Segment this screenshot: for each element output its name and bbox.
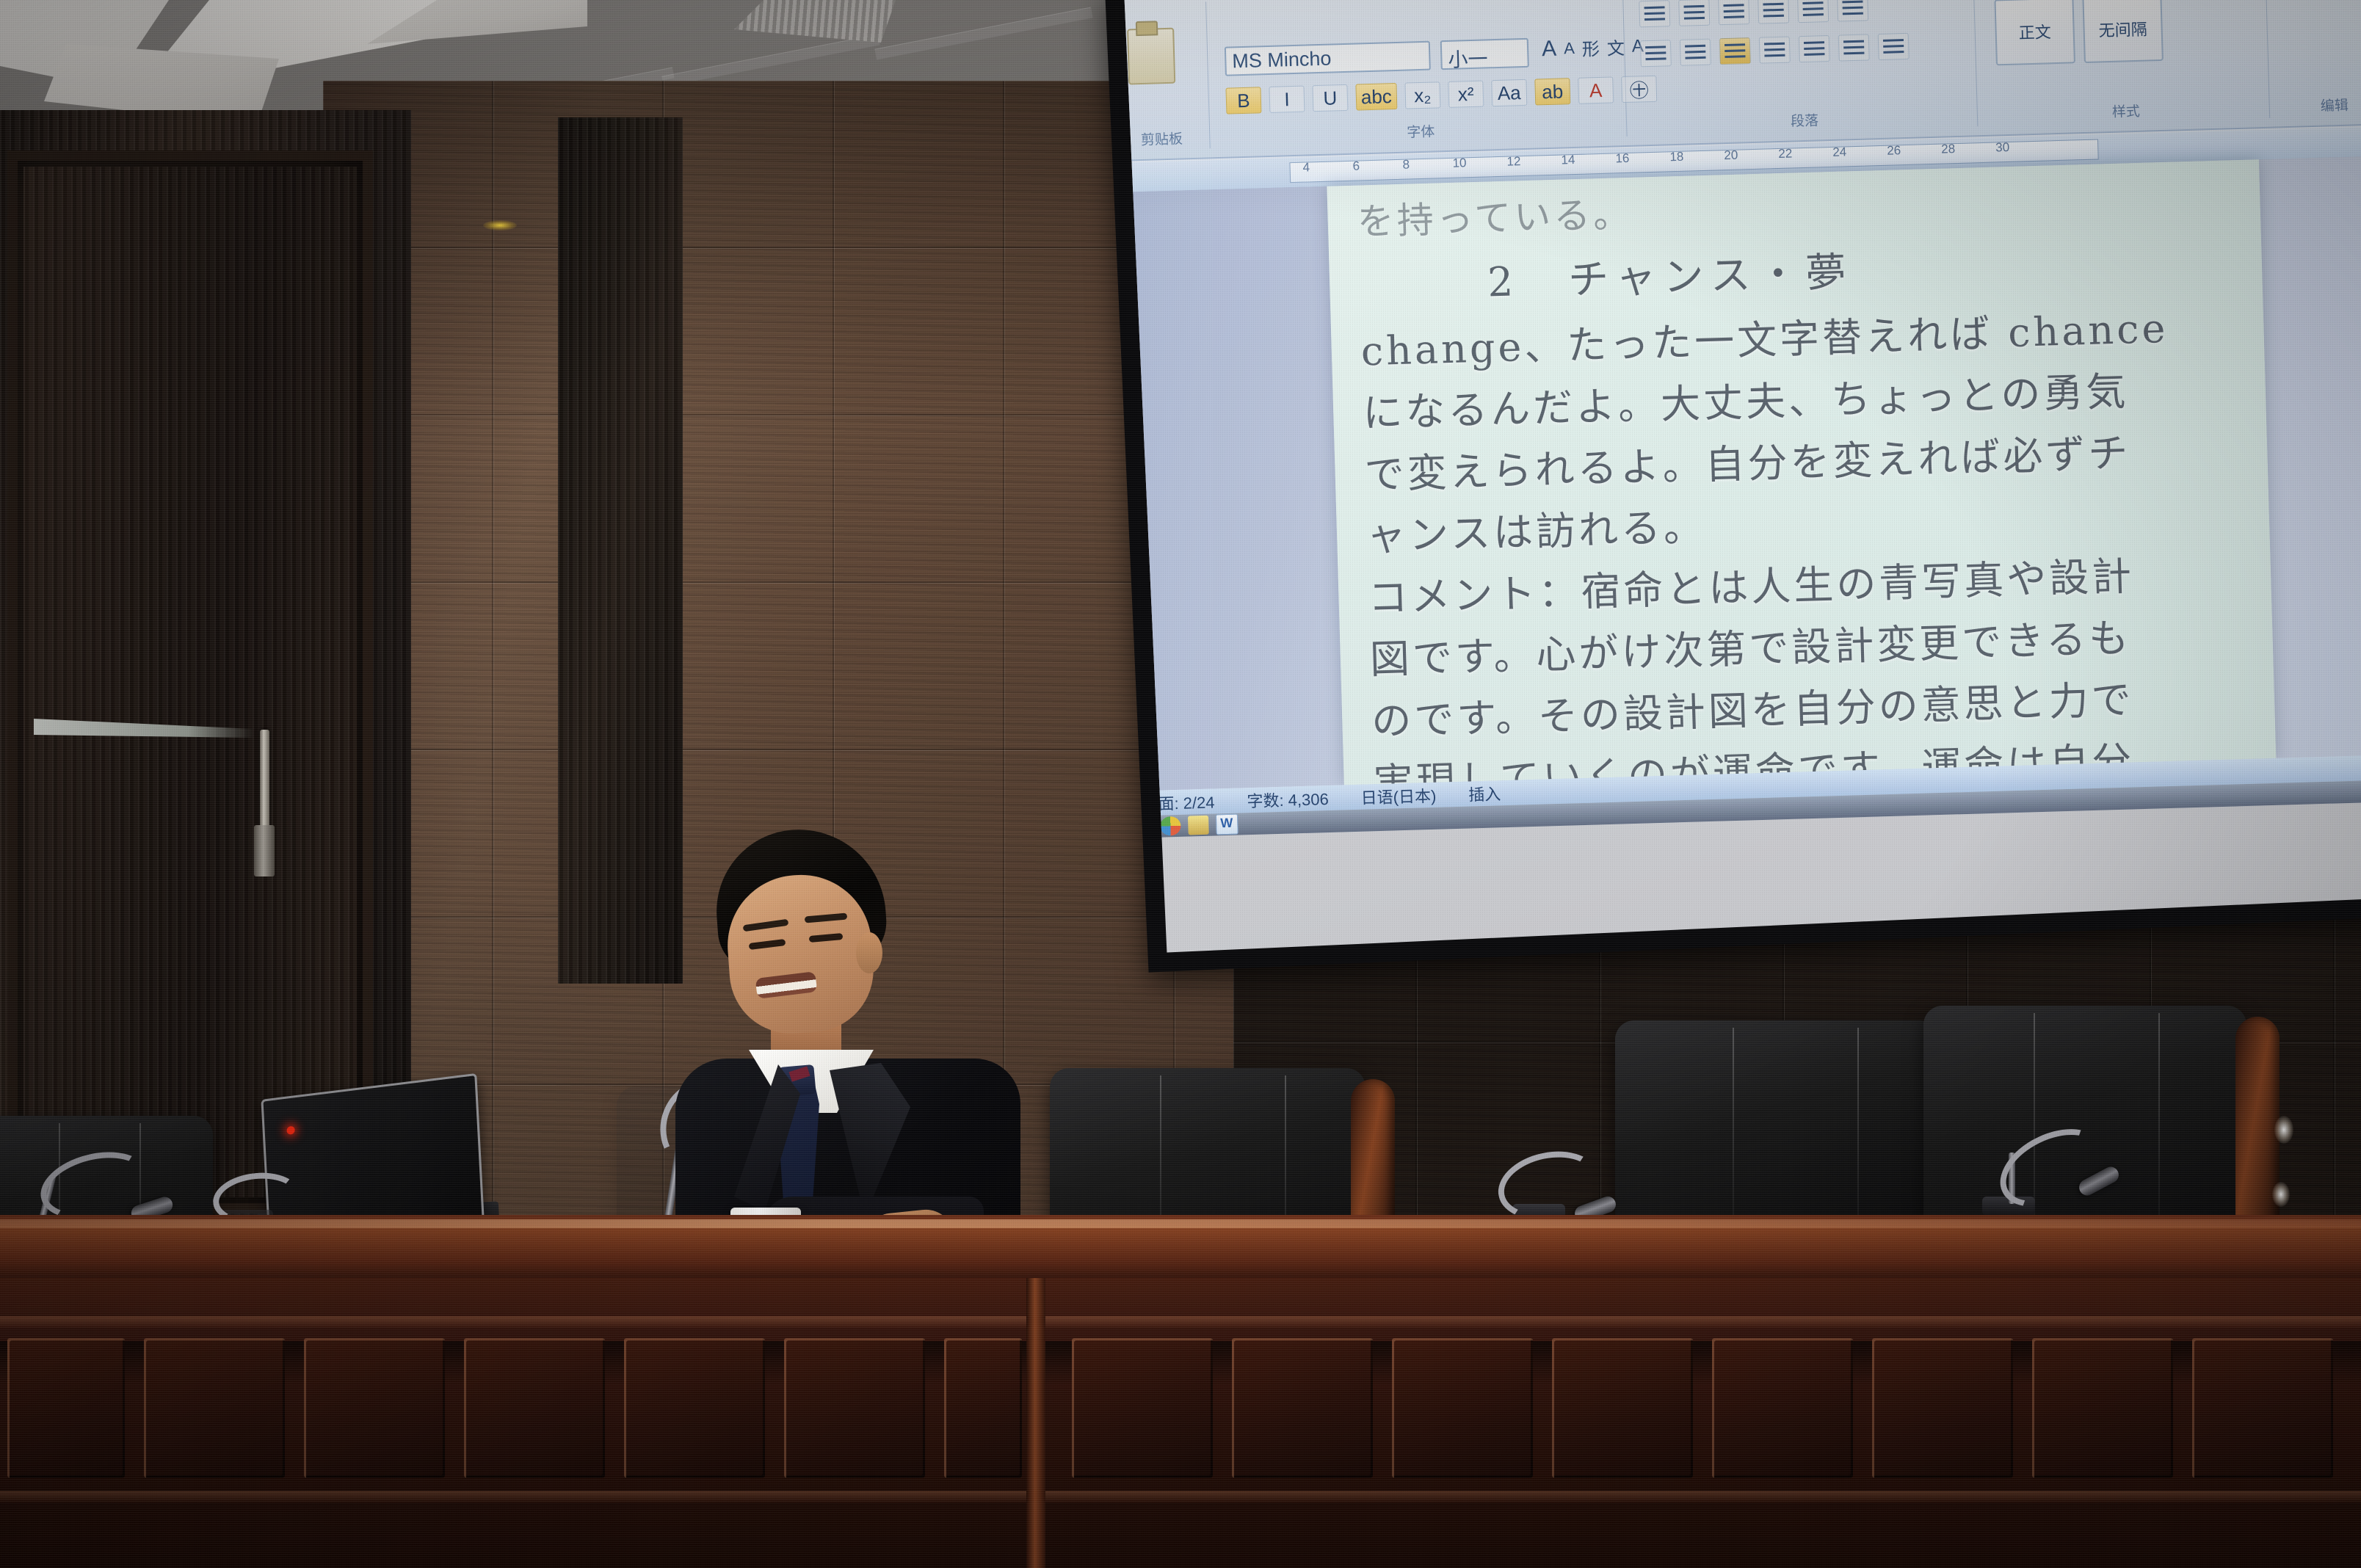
sort-icon[interactable] — [1837, 0, 1868, 22]
borders-icon[interactable] — [1878, 33, 1910, 60]
clear-formatting-icon[interactable]: 形 — [1581, 35, 1600, 61]
document-page[interactable]: を持っている。 2 チャンス・夢 change、たった一文字替えれば chanc… — [1327, 159, 2276, 785]
desk-panel — [784, 1338, 925, 1478]
grow-font-icon[interactable]: A — [1542, 36, 1557, 62]
status-language[interactable]: 日语(日本) — [1360, 783, 1437, 809]
ruler-tick: 22 — [1778, 146, 1792, 161]
desk-panel — [1232, 1338, 1373, 1478]
group-label-font: 字体 — [1215, 115, 1627, 147]
ruler-tick: 28 — [1941, 142, 1955, 157]
ribbon-group-paragraph: 段落 — [1628, 0, 1979, 137]
lecture-hall-scene: ↶ ▾ ↷ ▾ 文档1 - Microsoft Word 开始 插入 — [0, 0, 2361, 1568]
shading-icon[interactable] — [1838, 34, 1870, 61]
ruler-tick: 20 — [1724, 148, 1738, 164]
status-insert-mode[interactable]: 插入 — [1468, 781, 1501, 805]
door[interactable] — [7, 150, 373, 1213]
bullet-list-icon[interactable] — [1639, 0, 1670, 27]
style-normal[interactable]: 正文 — [1994, 0, 2075, 65]
laptop-power-led — [286, 1126, 294, 1135]
office-icon[interactable] — [1160, 816, 1181, 836]
ruler-tick: 18 — [1669, 150, 1683, 165]
ribbon-group-font: MS Mincho 小一 A A 形 文 A B I — [1211, 0, 1628, 148]
desk-panel — [1872, 1338, 2013, 1478]
desk-panel — [944, 1338, 1022, 1478]
door-leaf — [23, 167, 357, 1197]
style-no-spacing[interactable]: 无间隔 — [2082, 0, 2164, 63]
wall-highlight-spot — [483, 220, 517, 231]
italic-button[interactable]: I — [1269, 86, 1305, 113]
document-workspace[interactable]: を持っている。 2 チャンス・夢 change、たった一文字替えれば chanc… — [1124, 156, 2361, 791]
ruler-tick: 6 — [1352, 159, 1360, 173]
status-word-count[interactable]: 字数: 4,306 — [1247, 786, 1329, 812]
ruler-tick: 24 — [1832, 145, 1846, 160]
align-center-icon[interactable] — [1680, 39, 1711, 66]
ruler-tick: 16 — [1615, 151, 1629, 167]
underline-button[interactable]: U — [1312, 84, 1348, 112]
desk-upper-rail — [0, 1316, 2361, 1328]
group-label-clipboard: 剪贴板 — [1124, 127, 1210, 150]
strikethrough-button[interactable]: abc — [1355, 83, 1397, 111]
ribbon-group-styles: 正文 无间隔 样式 — [1979, 0, 2271, 126]
desk-panel — [2032, 1338, 2173, 1478]
phonetic-guide-icon[interactable]: 文 — [1606, 34, 1625, 60]
door-lock-plate — [254, 825, 275, 876]
desk-top-highlight — [0, 1219, 2361, 1228]
desk-front-panel — [0, 1278, 2361, 1568]
desk-panel — [464, 1338, 605, 1478]
ruler-tick: 26 — [1887, 143, 1901, 159]
desk-panel — [1392, 1338, 1533, 1478]
paste-icon[interactable] — [1127, 28, 1175, 85]
desk-lower-rail — [0, 1491, 2361, 1503]
shrink-font-icon[interactable]: A — [1564, 38, 1575, 57]
speaker-ear — [856, 932, 882, 973]
ribbon-group-clipboard: 剪贴板 — [1124, 1, 1211, 151]
desk-divider-post — [1026, 1278, 1045, 1568]
desk-panel — [1712, 1338, 1853, 1478]
ruler-tick: 4 — [1302, 160, 1310, 175]
projection-screen: ↶ ▾ ↷ ▾ 文档1 - Microsoft Word 开始 插入 — [1105, 0, 2361, 973]
justify-icon[interactable] — [1759, 36, 1791, 63]
superscript-button[interactable]: x² — [1448, 81, 1484, 108]
desk-panel — [7, 1338, 125, 1478]
ruler-tick: 10 — [1452, 156, 1466, 171]
numbered-list-icon[interactable] — [1678, 0, 1710, 26]
line-spacing-icon[interactable] — [1799, 35, 1830, 62]
projected-image: ↶ ▾ ↷ ▾ 文档1 - Microsoft Word 开始 插入 — [1124, 0, 2361, 838]
desk-panel — [304, 1338, 445, 1478]
change-case-button[interactable]: Aa — [1491, 79, 1527, 106]
desk-panel — [624, 1338, 765, 1478]
font-name-input[interactable]: MS Mincho — [1225, 41, 1431, 76]
font-format-buttons[interactable]: B I U abc x₂ x² Aa ab A ㊉ — [1225, 76, 1657, 115]
align-right-icon[interactable] — [1719, 37, 1751, 65]
ribbon-group-editing: 编辑 — [2275, 0, 2361, 117]
font-size-input[interactable]: 小一 — [1440, 38, 1529, 70]
group-label-styles: 样式 — [1983, 97, 2270, 125]
ruler-tick: 30 — [1995, 140, 2009, 156]
paragraph-align-buttons[interactable] — [1640, 33, 1910, 68]
chair-frame-highlight — [2274, 1116, 2293, 1144]
group-label-paragraph: 段落 — [1632, 105, 1978, 135]
paragraph-list-buttons[interactable] — [1639, 0, 1868, 27]
bold-button[interactable]: B — [1225, 87, 1261, 114]
conference-desk — [0, 1215, 2361, 1568]
increase-indent-icon[interactable] — [1797, 0, 1829, 23]
word-window: ↶ ▾ ↷ ▾ 文档1 - Microsoft Word 开始 插入 — [1124, 0, 2361, 838]
desk-panel — [1072, 1338, 1213, 1478]
chair-frame-highlight-2 — [2272, 1182, 2290, 1207]
chair-right-1 — [1615, 1020, 1938, 1226]
align-left-icon[interactable] — [1640, 40, 1672, 67]
desk-top-surface — [0, 1215, 2361, 1278]
screen-surface: ↶ ▾ ↷ ▾ 文档1 - Microsoft Word 开始 插入 — [1124, 0, 2361, 953]
ruler-tick: 8 — [1402, 157, 1410, 172]
folder-icon[interactable] — [1188, 816, 1209, 835]
desk-panel — [2192, 1338, 2333, 1478]
font-scale-buttons[interactable]: A A 形 文 A — [1542, 33, 1644, 62]
text-highlight-button[interactable]: ab — [1534, 78, 1570, 105]
desk-panel — [144, 1338, 285, 1478]
ruler-tick: 14 — [1561, 153, 1575, 168]
word-document-icon[interactable] — [1216, 814, 1238, 835]
multilevel-list-icon[interactable] — [1718, 0, 1749, 25]
speaker — [646, 830, 1028, 1248]
font-color-button[interactable]: A — [1578, 76, 1614, 104]
subscript-button[interactable]: x₂ — [1404, 81, 1440, 109]
decrease-indent-icon[interactable] — [1758, 0, 1789, 24]
group-label-editing: 编辑 — [2279, 93, 2361, 116]
ruler-tick: 12 — [1506, 154, 1520, 170]
desk-panel — [1552, 1338, 1693, 1478]
